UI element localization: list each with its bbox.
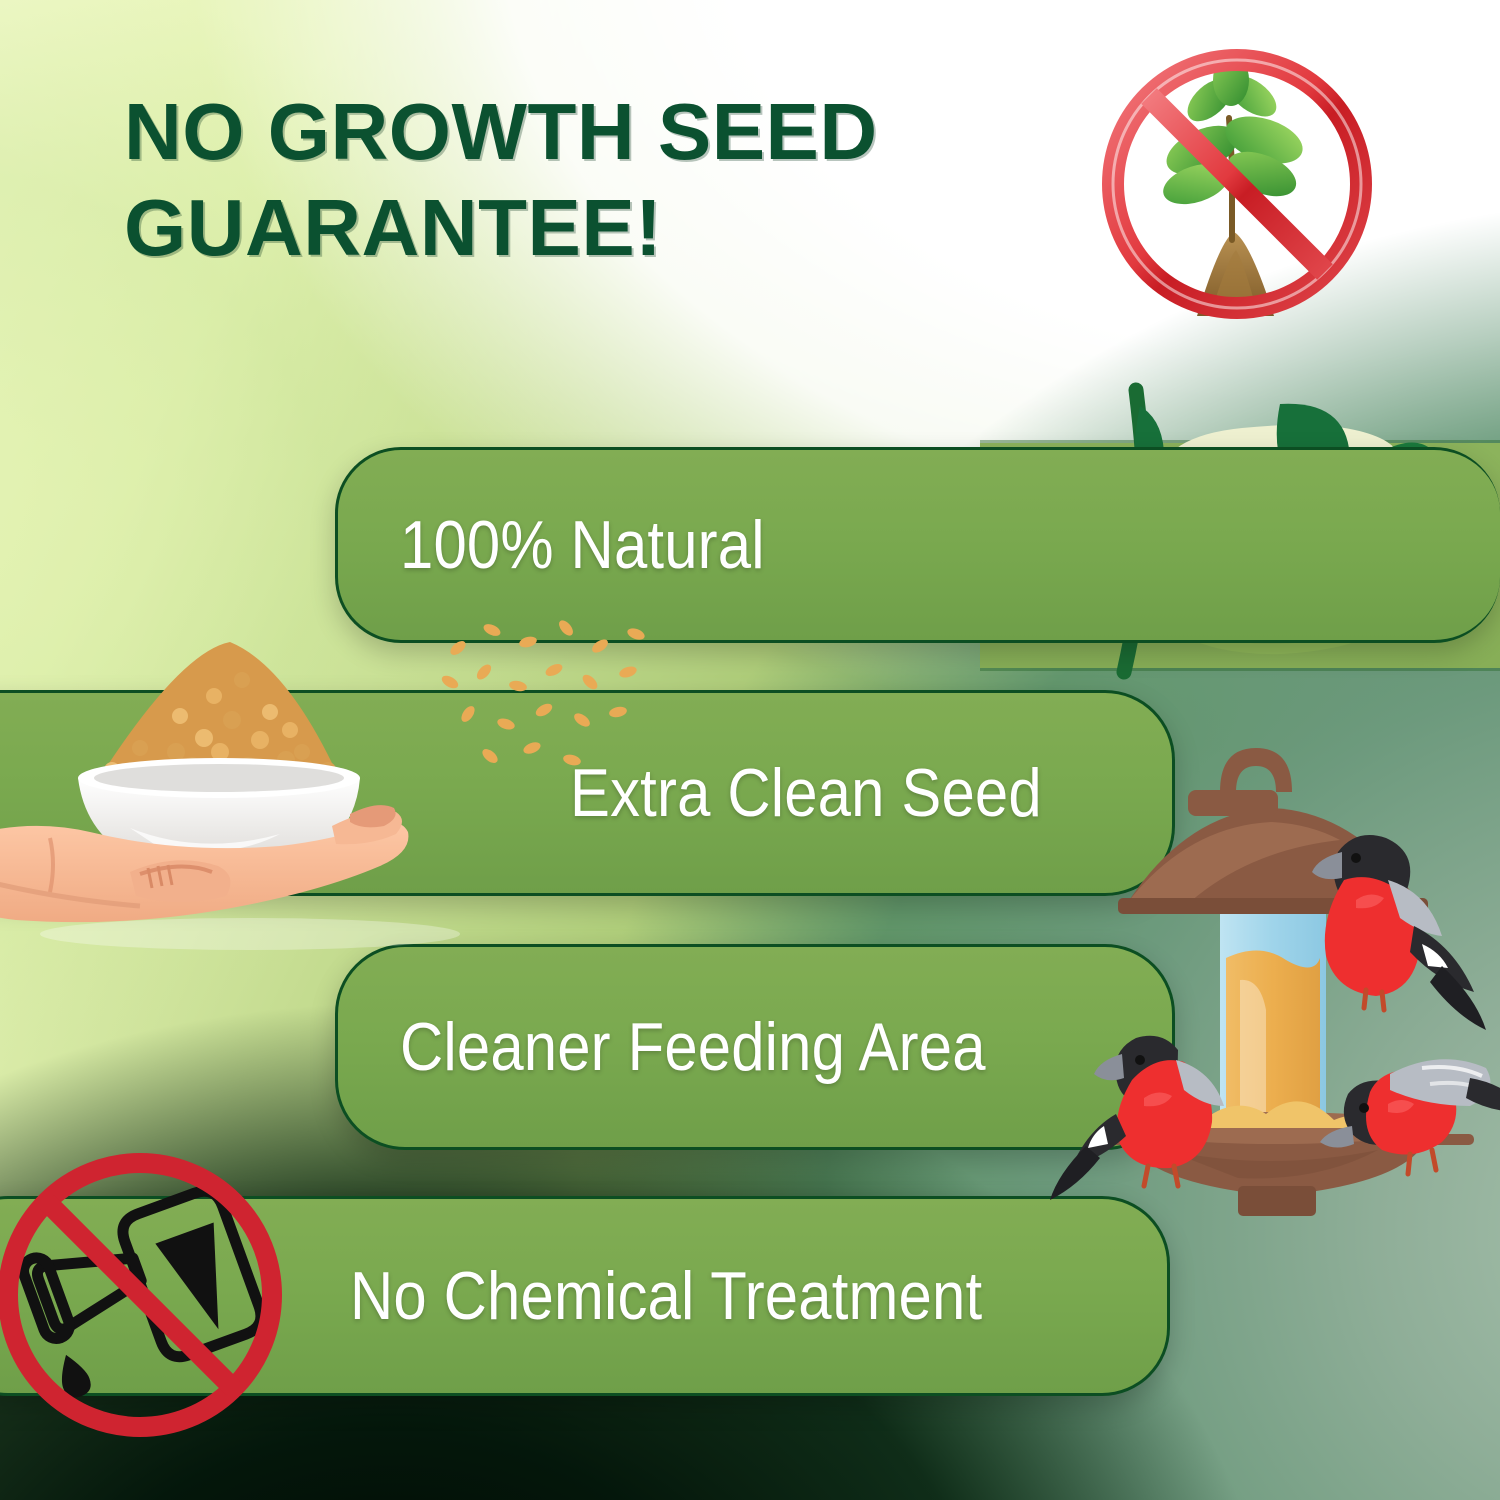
headline-line-1: NO GROWTH SEED xyxy=(124,84,1024,180)
hand-holding-seed-bowl-icon xyxy=(0,620,540,950)
feature-label-natural: 100% Natural xyxy=(400,506,765,584)
infographic-canvas: NO GROWTH SEED GUARANTEE! xyxy=(0,0,1500,1500)
feature-label-feeding-area: Cleaner Feeding Area xyxy=(400,1008,986,1086)
feature-label-no-chemical: No Chemical Treatment xyxy=(350,1257,982,1335)
feature-pill-feeding-area[interactable]: Cleaner Feeding Area xyxy=(335,944,1175,1150)
headline-line-2: GUARANTEE! xyxy=(124,180,1024,276)
bird-feeder-with-bullfinches-icon xyxy=(1070,730,1500,1220)
bullfinch-top xyxy=(1312,835,1486,1030)
no-chemical-flask-icon xyxy=(0,1140,290,1450)
no-plant-growth-icon xyxy=(1092,44,1382,324)
page-title: NO GROWTH SEED GUARANTEE! xyxy=(124,84,1024,276)
feature-pill-natural[interactable]: 100% Natural xyxy=(335,447,1500,643)
